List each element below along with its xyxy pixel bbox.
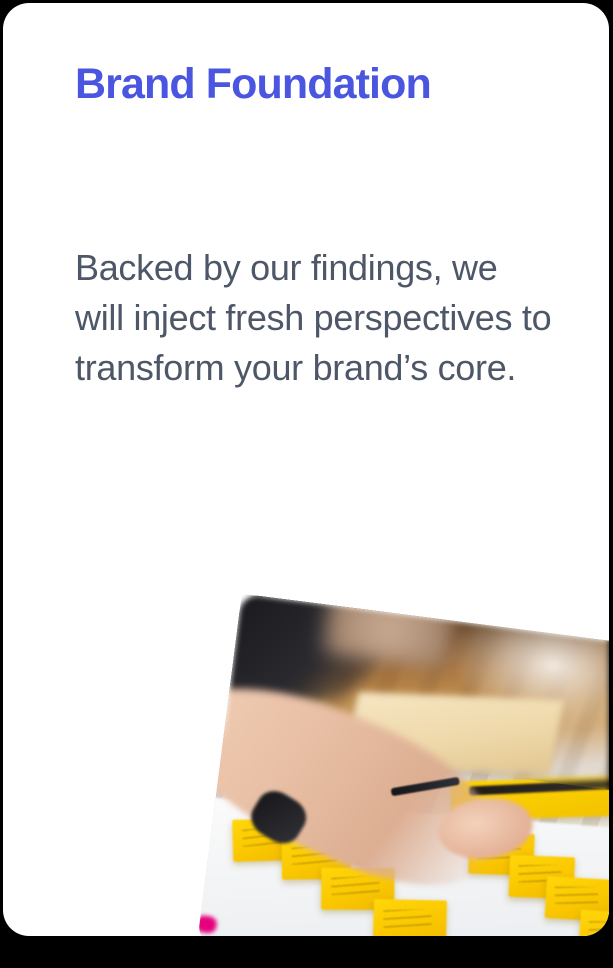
photo-sticky-note — [579, 909, 609, 936]
workshop-photo — [197, 594, 609, 936]
photo-sticky-note — [373, 898, 447, 936]
page-title: Brand Foundation — [75, 60, 431, 108]
brand-foundation-card: Brand Foundation Backed by our findings,… — [3, 3, 609, 936]
photo-backdrop — [197, 594, 609, 936]
body-paragraph: Backed by our findings, we will inject f… — [75, 243, 553, 393]
